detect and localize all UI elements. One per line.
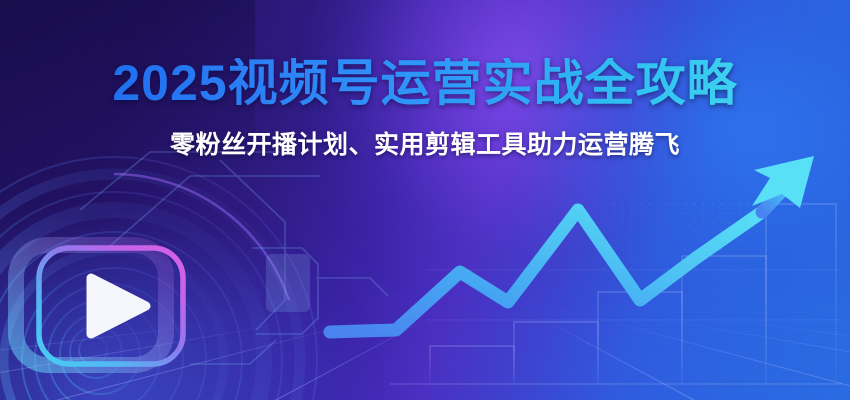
trend-line: [330, 210, 762, 332]
growth-chart: [330, 150, 850, 400]
promo-banner: 2025视频号运营实战全攻略 零粉丝开播计划、实用剪辑工具助力运营腾飞: [0, 0, 850, 400]
page-subtitle-container: 零粉丝开播计划、实用剪辑工具助力运营腾飞: [0, 133, 850, 158]
chart-background-bars: [390, 204, 842, 384]
page-subtitle: 零粉丝开播计划、实用剪辑工具助力运营腾飞: [170, 133, 680, 158]
play-button[interactable]: [34, 243, 188, 369]
page-title-container: 2025视频号运营实战全攻略: [0, 58, 850, 108]
page-title: 2025视频号运营实战全攻略: [112, 58, 737, 108]
play-icon: [91, 278, 146, 334]
trending-up-arrow-icon: [752, 156, 814, 208]
